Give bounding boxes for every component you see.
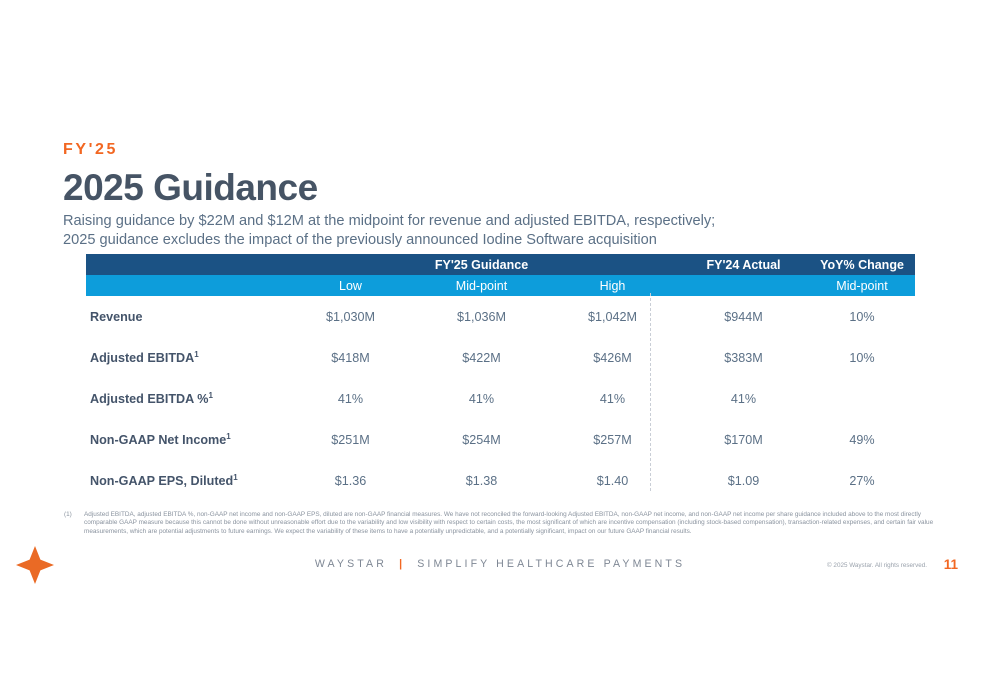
- page-number: 11: [944, 557, 958, 572]
- cell-low: $418M: [285, 337, 416, 378]
- cell-yoy: 10%: [809, 337, 915, 378]
- subheader-low: Low: [285, 275, 416, 296]
- cell-low: $1.36: [285, 460, 416, 501]
- page-subtitle: Raising guidance by $22M and $12M at the…: [63, 212, 953, 250]
- row-label-cell: Non-GAAP Net Income1: [86, 419, 285, 460]
- cell-yoy: 10%: [809, 296, 915, 337]
- eyebrow-label: FY'25: [63, 141, 118, 159]
- cell-mid: 41%: [416, 378, 547, 419]
- cell-actual: $944M: [678, 296, 809, 337]
- table-row: Adjusted EBITDA1 $418M $422M $426M $383M…: [86, 337, 915, 378]
- guidance-table: FY'25 Guidance FY'24 Actual YoY% Change …: [86, 254, 915, 501]
- cell-actual: $383M: [678, 337, 809, 378]
- cell-high: $426M: [547, 337, 678, 378]
- table-row: Non-GAAP Net Income1 $251M $254M $257M $…: [86, 419, 915, 460]
- table-row: Adjusted EBITDA %1 41% 41% 41% 41%: [86, 378, 915, 419]
- row-label-cell: Non-GAAP EPS, Diluted1: [86, 460, 285, 501]
- row-label-text: Non-GAAP EPS, Diluted: [90, 474, 233, 488]
- footer-brand-name: WAYSTAR: [315, 558, 387, 570]
- page-title: 2025 Guidance: [63, 167, 318, 209]
- cell-high: 41%: [547, 378, 678, 419]
- row-label-text: Adjusted EBITDA: [90, 351, 194, 365]
- cell-high: $1.40: [547, 460, 678, 501]
- cell-actual: $1.09: [678, 460, 809, 501]
- footnote-text: Adjusted EBITDA, adjusted EBITDA %, non-…: [84, 511, 950, 536]
- guidance-table-container: FY'25 Guidance FY'24 Actual YoY% Change …: [86, 254, 915, 501]
- subheader-high: High: [547, 275, 678, 296]
- header-fy25-guidance: FY'25 Guidance: [285, 254, 678, 275]
- row-label-cell: Adjusted EBITDA1: [86, 337, 285, 378]
- footnote-number: (1): [64, 511, 82, 519]
- subheader-actual-blank: [678, 275, 809, 296]
- table-subheader-row: Low Mid-point High Mid-point: [86, 275, 915, 296]
- header-blank-corner: [86, 254, 285, 275]
- row-label-text: Non-GAAP Net Income: [90, 433, 226, 447]
- cell-actual: $170M: [678, 419, 809, 460]
- row-label-cell: Revenue: [86, 296, 285, 337]
- table-row: Revenue $1,030M $1,036M $1,042M $944M 10…: [86, 296, 915, 337]
- slide-canvas: FY'25 2025 Guidance Raising guidance by …: [0, 0, 1000, 685]
- table-row: Non-GAAP EPS, Diluted1 $1.36 $1.38 $1.40…: [86, 460, 915, 501]
- header-fy24-actual: FY'24 Actual: [678, 254, 809, 275]
- cell-mid: $1.38: [416, 460, 547, 501]
- footnote-marker: 1: [208, 390, 212, 399]
- row-label-text: Revenue: [90, 310, 143, 324]
- cell-yoy: 27%: [809, 460, 915, 501]
- cell-low: $251M: [285, 419, 416, 460]
- cell-high: $257M: [547, 419, 678, 460]
- guidance-actual-divider: [650, 293, 651, 491]
- subheader-blank: [86, 275, 285, 296]
- cell-low: 41%: [285, 378, 416, 419]
- footnote-marker: 1: [233, 472, 237, 481]
- subheader-mid-point: Mid-point: [416, 275, 547, 296]
- cell-mid: $422M: [416, 337, 547, 378]
- cell-low: $1,030M: [285, 296, 416, 337]
- cell-high: $1,042M: [547, 296, 678, 337]
- footer-copyright: © 2025 Waystar. All rights reserved.: [827, 562, 927, 569]
- row-label-cell: Adjusted EBITDA %1: [86, 378, 285, 419]
- footnote-block: (1) Adjusted EBITDA, adjusted EBITDA %, …: [64, 511, 950, 536]
- cell-yoy: 49%: [809, 419, 915, 460]
- cell-mid: $254M: [416, 419, 547, 460]
- table-header-group-row: FY'25 Guidance FY'24 Actual YoY% Change: [86, 254, 915, 275]
- header-yoy-change: YoY% Change: [809, 254, 915, 275]
- guidance-table-body: Revenue $1,030M $1,036M $1,042M $944M 10…: [86, 296, 915, 501]
- footer-tagline: SIMPLIFY HEALTHCARE PAYMENTS: [417, 558, 685, 570]
- cell-yoy: [809, 378, 915, 419]
- footnote-marker: 1: [226, 431, 230, 440]
- footnote-marker: 1: [194, 349, 198, 358]
- subheader-yoy-mid-point: Mid-point: [809, 275, 915, 296]
- cell-actual: 41%: [678, 378, 809, 419]
- row-label-text: Adjusted EBITDA %: [90, 392, 208, 406]
- cell-mid: $1,036M: [416, 296, 547, 337]
